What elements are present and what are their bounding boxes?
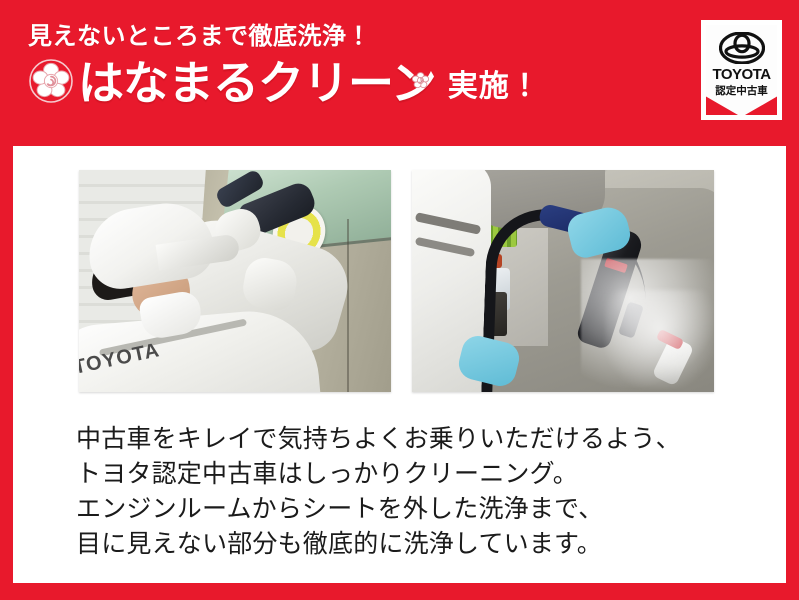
copy-line-2: トヨタ認定中古車はしっかりクリーニング。 [76, 457, 766, 492]
brand-logotype: はなまるクリーン [78, 61, 436, 106]
toyota-certified-label: 認定中古車 [706, 83, 777, 98]
content-panel: TOYOTA [13, 146, 786, 583]
hanamaru-flower-emblem-icon [28, 58, 74, 104]
headline-block: 見えないところまで徹底洗浄！ [28, 24, 668, 106]
body-copy: 中古車をキレイで気持ちよくお乗りいただけるよう、 トヨタ認定中古車はしっかりクリ… [76, 422, 766, 562]
badge-inner: TOYOTA 認定中古車 [706, 25, 777, 115]
header-band: 見えないところまで徹底洗浄！ [0, 0, 799, 139]
sub-headline: 見えないところまで徹底洗浄！ [28, 24, 668, 49]
photo-polishing-scene: TOYOTA [79, 170, 391, 392]
logotype-row: はなまるクリーン [28, 58, 668, 106]
toyota-wordmark: TOYOTA [706, 66, 777, 83]
photo-polishing: TOYOTA [79, 170, 391, 392]
copy-line-3: エンジンルームからシートを外した洗浄まで、 [76, 492, 766, 527]
copy-line-1: 中古車をキレイで気持ちよくお乗りいただけるよう、 [76, 422, 766, 457]
photo-steam-scene [412, 170, 714, 392]
brand-logotype-text: はなまるクリーン [78, 57, 436, 109]
toyota-ellipse-mark-icon [719, 32, 765, 64]
toyota-certified-used-car-badge: TOYOTA 認定中古車 [701, 20, 782, 120]
photo-steam-cleaning [412, 170, 714, 392]
copy-line-4: 目に見えない部分も徹底的に洗浄しています。 [76, 527, 766, 562]
small-flower-accent-icon [411, 52, 430, 71]
photo-row: TOYOTA [13, 146, 786, 406]
action-label: 実施！ [448, 72, 541, 102]
hanamaru-clean-poster: 見えないところまで徹底洗浄！ [0, 0, 799, 600]
